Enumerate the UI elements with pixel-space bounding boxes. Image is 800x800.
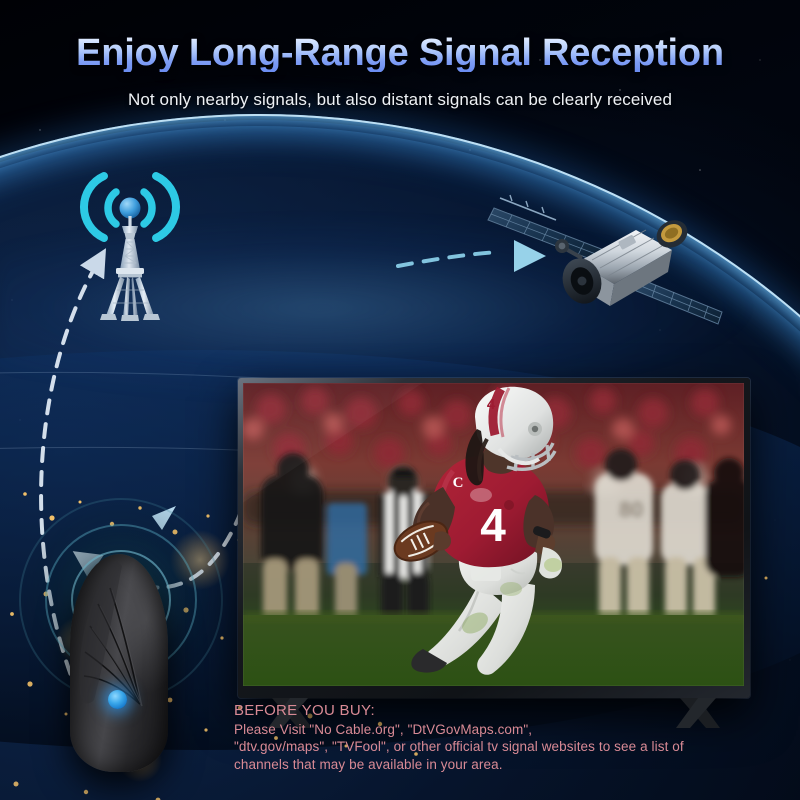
- tower-beacon: [120, 198, 141, 219]
- promo-image-canvas: Enjoy Long-Range Signal Reception Not on…: [0, 0, 800, 800]
- screen-sheen: [243, 383, 744, 686]
- television: 80: [238, 378, 750, 698]
- disclaimer-title: BEFORE YOU BUY:: [234, 702, 774, 720]
- tv-bezel: 80: [238, 378, 750, 698]
- tv-screen: 80: [243, 383, 744, 686]
- solar-panel-right: [634, 278, 722, 324]
- led-indicator-icon: [108, 690, 127, 709]
- disclaimer-line-3: channels that may be available in your a…: [234, 756, 774, 774]
- page-title: Enjoy Long-Range Signal Reception: [0, 34, 800, 72]
- satellite-group: [486, 186, 726, 326]
- solar-panel-left: [488, 195, 604, 262]
- indoor-antenna-group: [18, 492, 233, 792]
- antenna-body: [70, 554, 168, 772]
- broadcast-tower-group: [60, 158, 200, 338]
- disclaimer-line-2: "dtv.gov/maps", "TVFool", or other offic…: [234, 738, 774, 756]
- page-subtitle: Not only nearby signals, but also distan…: [0, 90, 800, 110]
- before-you-buy-disclaimer: BEFORE YOU BUY: Please Visit "No Cable.o…: [234, 702, 774, 773]
- disclaimer-line-1: Please Visit "No Cable.org", "DtVGovMaps…: [234, 721, 774, 739]
